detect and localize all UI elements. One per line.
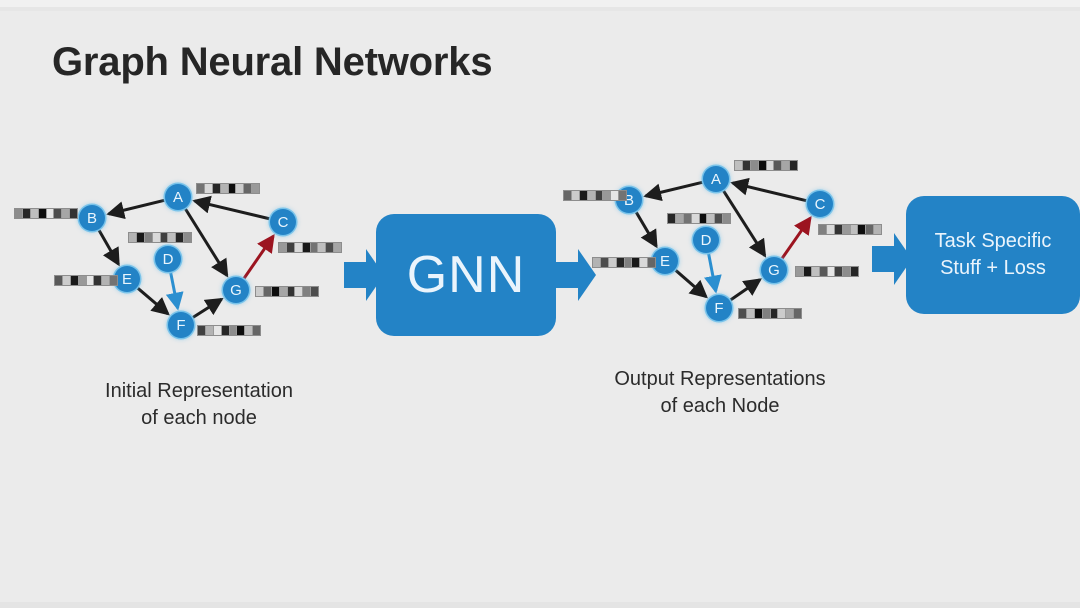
feature-cell [723,214,730,223]
feature-cell [221,184,229,193]
feature-cell [252,184,259,193]
right-caption-line2: of each Node [570,393,870,420]
left-caption-line1: Initial Representation [44,378,354,405]
feature-cell [796,267,804,276]
graph-node-right-D[interactable]: D [693,227,719,253]
feature-cell [311,287,318,296]
feature-cell [326,243,334,252]
edge-G-C [244,236,273,278]
feature-cell [588,191,596,200]
feature-cell [87,276,95,285]
feature-cell [774,161,782,170]
left-graph-edges [0,0,340,360]
edge-C-A [733,183,807,201]
feature-vector-right-D [667,213,731,224]
feature-cell [790,161,797,170]
feature-cell [707,214,715,223]
feature-cell [197,184,205,193]
graph-node-right-B[interactable]: B [616,187,642,213]
feature-cell [625,258,633,267]
graph-node-left-C[interactable]: C [270,209,296,235]
feature-cell [71,276,79,285]
feature-cell [31,209,39,218]
right-caption-line1: Output Representations [570,366,870,393]
feature-vector-left-C [278,242,342,253]
feature-cell [763,309,771,318]
feature-cell [303,287,311,296]
feature-cell [843,267,851,276]
feature-cell [256,287,264,296]
feature-cell [786,309,794,318]
feature-vector-left-D [128,232,192,243]
feature-cell [264,287,272,296]
feature-vector-left-E [54,275,118,286]
feature-cell [609,258,617,267]
feature-cell [564,191,572,200]
feature-cell [668,214,676,223]
left-graph: ABCDEFG [0,0,340,360]
edge-E-F [676,270,707,297]
feature-cell [735,161,743,170]
graph-node-left-G[interactable]: G [223,277,249,303]
feature-cell [778,309,786,318]
gnn-box[interactable]: GNN [376,214,556,336]
graph-node-left-A[interactable]: A [165,184,191,210]
feature-cell [54,209,62,218]
task-box-line1: Task Specific [935,228,1052,255]
graph-node-left-D[interactable]: D [155,246,181,272]
feature-cell [835,267,843,276]
feature-cell [596,191,604,200]
feature-cell [63,276,71,285]
feature-cell [253,326,260,335]
feature-cell [184,233,191,242]
feature-cell [851,225,859,234]
graph-node-right-C[interactable]: C [807,191,833,217]
feature-cell [580,191,588,200]
feature-cell [601,258,609,267]
graph-node-right-F[interactable]: F [706,295,732,321]
graph-node-left-B[interactable]: B [79,205,105,231]
feature-cell [603,191,611,200]
feature-cell [819,225,827,234]
feature-cell [739,309,747,318]
edge-B-E [636,212,656,246]
feature-cell [70,209,77,218]
task-box-line2: Stuff + Loss [935,255,1052,282]
feature-cell [288,287,296,296]
feature-cell [692,214,700,223]
feature-cell [767,161,775,170]
feature-cell [102,276,110,285]
graph-node-right-E[interactable]: E [652,248,678,274]
feature-cell [684,214,692,223]
feature-cell [110,276,117,285]
bottom-band [0,602,1080,608]
edge-D-F [171,273,178,309]
feature-vector-left-G [255,286,319,297]
feature-vector-left-B [14,208,78,219]
feature-cell [676,214,684,223]
feature-cell [222,326,230,335]
feature-cell [804,267,812,276]
feature-cell [743,161,751,170]
feature-cell [137,233,145,242]
feature-cell [295,243,303,252]
feature-cell [794,309,801,318]
feature-cell [295,287,303,296]
feature-cell [206,326,214,335]
graph-node-right-A[interactable]: A [703,166,729,192]
feature-cell [632,258,640,267]
slide-canvas: Graph Neural Networks ABCDEFG Initial Re… [0,0,1080,608]
feature-cell [303,243,311,252]
feature-vector-right-A [734,160,798,171]
feature-cell [244,184,252,193]
feature-cell [205,184,213,193]
edge-F-G [731,280,760,300]
feature-cell [79,276,87,285]
arrow-out-of-gnn [556,246,596,304]
feature-cell [55,276,63,285]
feature-cell [229,184,237,193]
graph-node-right-G[interactable]: G [761,257,787,283]
feature-vector-right-E [592,257,656,268]
feature-cell [287,243,295,252]
edge-B-E [99,230,119,264]
feature-cell [279,243,287,252]
graph-node-left-F[interactable]: F [168,312,194,338]
edge-A-B [646,182,703,196]
feature-cell [827,225,835,234]
feature-cell [782,161,790,170]
feature-cell [62,209,70,218]
feature-cell [715,214,723,223]
feature-cell [812,267,820,276]
feature-cell [835,225,843,234]
feature-cell [311,243,319,252]
feature-cell [47,209,55,218]
feature-cell [843,225,851,234]
feature-cell [572,191,580,200]
feature-cell [820,267,828,276]
edge-G-C [782,218,810,259]
left-graph-caption: Initial Representation of each node [44,378,354,432]
feature-vector-left-F [197,325,261,336]
feature-cell [828,267,836,276]
feature-cell [198,326,206,335]
edge-A-G [724,191,765,256]
feature-vector-right-F [738,308,802,319]
feature-cell [858,225,866,234]
edge-E-F [138,288,168,314]
feature-cell [617,258,625,267]
feature-cell [237,326,245,335]
feature-cell [272,287,280,296]
feature-cell [245,326,253,335]
feature-cell [318,243,326,252]
feature-vector-left-A [196,183,260,194]
feature-cell [230,326,238,335]
feature-cell [39,209,47,218]
left-caption-line2: of each node [44,405,354,432]
feature-cell [236,184,244,193]
right-graph-caption: Output Representations of each Node [570,366,870,420]
feature-cell [153,233,161,242]
feature-cell [176,233,184,242]
edge-A-B [109,200,165,214]
edge-F-G [193,299,222,317]
feature-cell [23,209,31,218]
feature-cell [168,233,176,242]
feature-cell [214,326,222,335]
feature-cell [751,161,759,170]
feature-cell [129,233,137,242]
feature-cell [771,309,779,318]
feature-cell [759,161,767,170]
feature-vector-right-G [795,266,859,277]
gnn-box-label: GNN [407,245,526,305]
feature-cell [94,276,102,285]
feature-cell [145,233,153,242]
feature-cell [213,184,221,193]
feature-cell [15,209,23,218]
feature-cell [755,309,763,318]
feature-cell [161,233,169,242]
feature-cell [747,309,755,318]
edge-D-F [709,254,716,292]
edge-C-A [195,201,270,219]
feature-cell [334,243,341,252]
feature-cell [851,267,858,276]
task-box[interactable]: Task Specific Stuff + Loss [906,196,1080,314]
feature-cell [700,214,708,223]
feature-cell [280,287,288,296]
feature-cell [640,258,648,267]
